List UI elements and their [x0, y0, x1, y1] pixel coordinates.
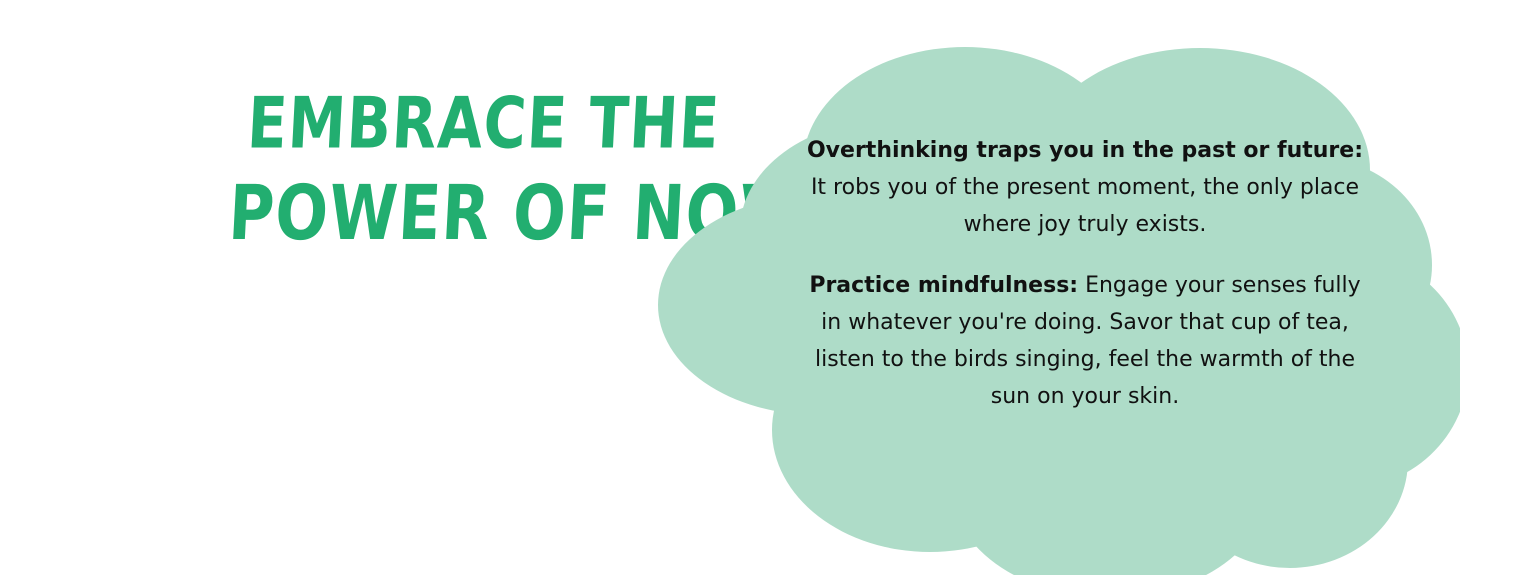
paragraph-1-rest: It robs you of the present moment, the o… — [811, 175, 1359, 237]
poster-canvas: Embrace the Power of Now — [0, 0, 1535, 585]
paragraph-2-lead: Practice mindfulness: — [809, 273, 1078, 298]
paragraph-2: Practice mindfulness: Engage your senses… — [800, 267, 1370, 415]
thought-cloud: Overthinking traps you in the past or fu… — [640, 30, 1460, 575]
cloud-body-text: Overthinking traps you in the past or fu… — [800, 132, 1370, 415]
paragraph-1: Overthinking traps you in the past or fu… — [800, 132, 1370, 243]
paragraph-1-lead: Overthinking traps you in the past or fu… — [807, 138, 1363, 163]
